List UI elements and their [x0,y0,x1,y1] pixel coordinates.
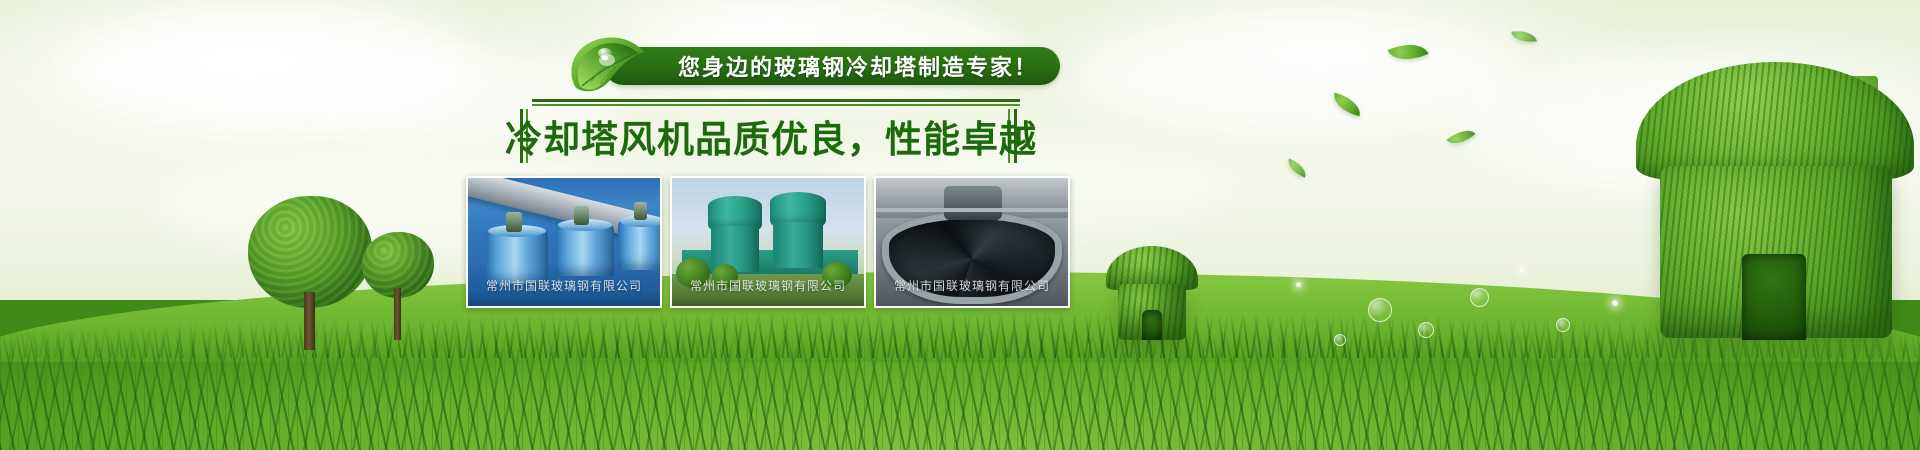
headline-text: 冷却塔风机品质优良，性能卓越 [536,111,1006,161]
bubble [1368,298,1392,322]
sparkle [1612,300,1618,306]
house-door [1742,254,1806,340]
sparkle [1520,268,1524,272]
grass-house-large-icon [1630,62,1920,332]
frp-tank [556,224,614,276]
fan-motor [506,212,522,232]
headline-rule-top-thin [532,104,1020,106]
sparkle [1296,282,1301,287]
tagline-text: 您身边的玻璃钢冷却塔制造专家！ [678,50,1038,82]
photo-frp-tanks-walkway[interactable]: 常州市国联玻璃钢有限公司 [466,176,662,308]
handrail [876,208,1068,212]
headline-frame: 冷却塔风机品质优良，性能卓越 [520,99,1020,163]
fan-housing [944,186,1002,220]
photo-watermark: 常州市国联玻璃钢有限公司 [876,277,1068,294]
photo-strip: 常州市国联玻璃钢有限公司 常州市国联玻璃钢有限公司 常州市国联玻 [466,176,1070,308]
photo-green-cooling-towers[interactable]: 常州市国联玻璃钢有限公司 [670,176,866,308]
cooling-tower [708,196,762,274]
tower-body [773,222,822,268]
photo-watermark: 常州市国联玻璃钢有限公司 [468,277,660,294]
photo-watermark: 常州市国联玻璃钢有限公司 [672,277,864,294]
headline-rule-top [532,99,1020,102]
house-door [1142,310,1162,340]
cooling-tower [770,192,826,274]
promo-banner: 您身边的玻璃钢冷却塔制造专家！ [0,0,1920,450]
tree-small [362,232,434,344]
bubble [1418,322,1434,338]
bubble [1556,318,1570,332]
fan-motor [634,202,647,220]
tree-trunk [394,288,401,340]
grass-blades [0,332,1920,450]
tower-fan-stack [708,196,762,230]
tower-fan-stack [770,192,826,226]
bubble [1470,288,1489,307]
fan-motor [574,206,589,225]
tree-trunk [304,292,315,350]
tagline-ribbon: 您身边的玻璃钢冷却塔制造专家！ [604,47,1060,85]
grass-house-small-icon [1104,246,1200,338]
photo-counterflow-tower-deck[interactable]: 常州市国联玻璃钢有限公司 [874,176,1070,308]
frp-tank [618,220,662,270]
tree-large [248,196,372,346]
frp-tank [486,230,548,284]
bubble [1334,334,1346,346]
